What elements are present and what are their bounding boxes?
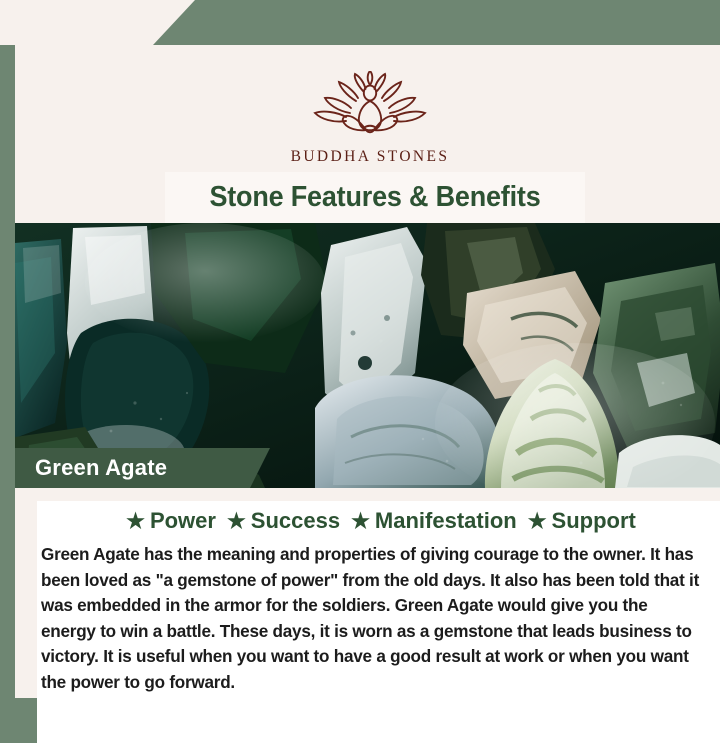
star-icon: ★ <box>528 511 547 532</box>
infographic-card: BUDDHA STONES Stone Features & Benefits <box>0 0 720 720</box>
benefit-power: ★ Power <box>126 508 216 534</box>
stone-name-band: Green Agate <box>15 448 270 488</box>
benefits-row: ★ Power ★ Success ★ Manifestation ★ Supp… <box>37 508 720 534</box>
benefit-support: ★ Support <box>528 508 636 534</box>
benefit-label: Manifestation <box>375 508 517 534</box>
page-title: Stone Features & Benefits <box>209 181 540 214</box>
separator-strip <box>15 488 720 501</box>
content-panel: ★ Power ★ Success ★ Manifestation ★ Supp… <box>37 501 720 743</box>
brand-name: BUDDHA STONES <box>291 148 450 166</box>
card-body: BUDDHA STONES Stone Features & Benefits <box>15 45 710 698</box>
brand-logo: BUDDHA STONES <box>15 71 720 166</box>
benefit-label: Power <box>150 508 216 534</box>
benefit-label: Success <box>251 508 340 534</box>
stone-name: Green Agate <box>35 455 167 481</box>
star-icon: ★ <box>126 511 145 532</box>
frame-left-border <box>0 45 15 720</box>
star-icon: ★ <box>227 511 246 532</box>
benefit-success: ★ Success <box>227 508 340 534</box>
benefit-manifestation: ★ Manifestation <box>351 508 517 534</box>
header-region: BUDDHA STONES Stone Features & Benefits <box>15 45 720 223</box>
lotus-meditation-figure-icon <box>304 71 436 143</box>
benefit-label: Support <box>552 508 636 534</box>
title-banner: Stone Features & Benefits <box>165 172 585 223</box>
star-icon: ★ <box>351 511 370 532</box>
description-text: Green Agate has the meaning and properti… <box>41 542 703 696</box>
